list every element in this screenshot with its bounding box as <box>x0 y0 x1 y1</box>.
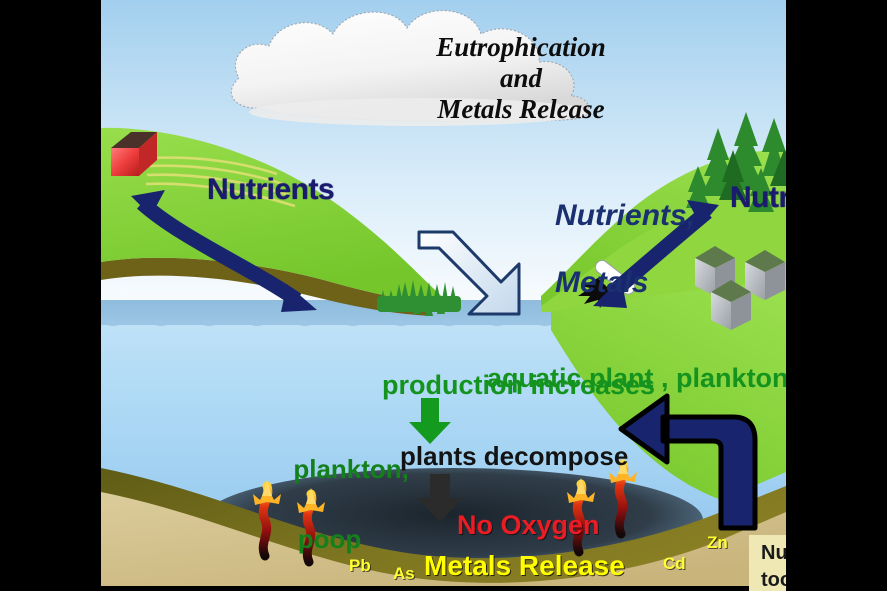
label-nutrients-metals: Nutrients, Metals <box>505 165 695 333</box>
label-production-increases: production increases <box>382 371 655 399</box>
label-metal-symbol-cd: Cd <box>663 555 686 573</box>
label-metal-symbol-as: As <box>393 565 415 583</box>
eutrophication-diagram: Eutrophication and Metals Release Nutrie… <box>101 0 786 591</box>
label-nutrients-metals-line1: Nutrients, <box>555 199 695 232</box>
label-metals-release: Metals Release <box>424 551 625 580</box>
screenshot-canvas: Eutrophication and Metals Release Nutrie… <box>0 0 887 591</box>
label-plankton-poop-left-line2: poop <box>250 522 409 557</box>
label-metal-symbol-zn: Zn <box>707 534 728 552</box>
label-plankton-poop-top: plankton, poop <box>669 363 786 393</box>
title-line-2: and <box>381 63 661 94</box>
label-plants-decompose: plants decompose <box>400 443 628 470</box>
label-nutrients-metals-line2: Metals <box>555 266 648 299</box>
label-nutrients-left: Nutrients <box>207 174 334 206</box>
callout-nutrients-too-line2: too <box>761 567 786 591</box>
page-title: Eutrophication and Metals Release <box>381 32 661 125</box>
label-no-oxygen: No Oxygen <box>457 511 600 539</box>
title-line-1: Eutrophication <box>381 32 661 63</box>
label-metal-symbol-pb: Pb <box>349 557 371 575</box>
label-nutrients-right: Nutrients <box>730 182 786 214</box>
callout-nutrients-too-line1: Nutrients <box>761 540 786 567</box>
label-plankton-poop-left-line1: plankton, <box>293 454 409 484</box>
frame-bottom-rule <box>101 586 786 591</box>
title-line-3: Metals Release <box>381 94 661 125</box>
label-plankton-poop-left: plankton, poop <box>250 417 409 591</box>
callout-nutrients-too: Nutrients too <box>749 535 786 591</box>
